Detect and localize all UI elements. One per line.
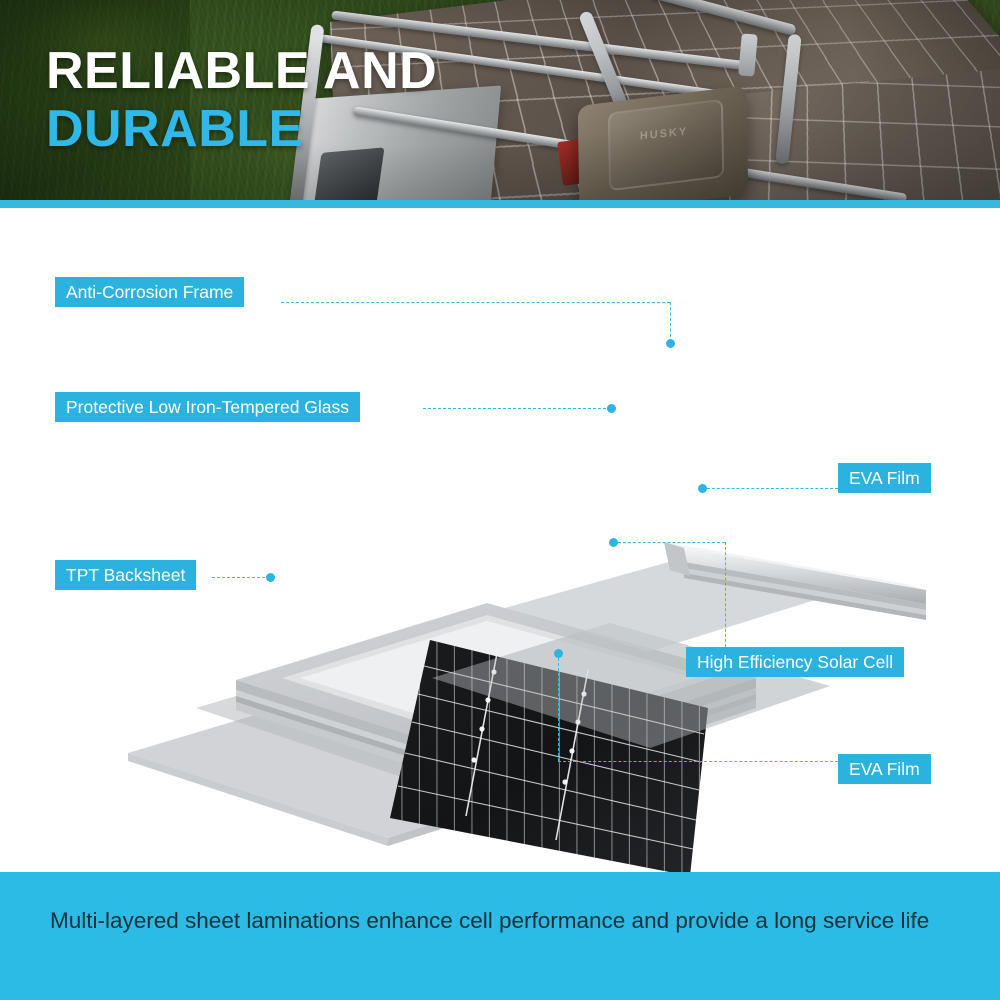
leader-line-eva-film-bottom xyxy=(558,761,838,762)
anchor-dot-eva-film-top xyxy=(698,484,707,493)
label-protective-low-iron-tempered-glass[interactable]: Protective Low Iron-Tempered Glass xyxy=(55,392,360,422)
hero-banner: HUSKY RELIABLE AND DURABLE xyxy=(0,0,1000,200)
hero-title-line-2: DURABLE xyxy=(46,100,437,158)
accent-divider-bar xyxy=(0,200,1000,208)
label-tpt-backsheet[interactable]: TPT Backsheet xyxy=(55,560,196,590)
exploded-diagram-stage: Anti-Corrosion Frame Protective Low Iron… xyxy=(0,208,1000,872)
label-eva-film-bottom[interactable]: EVA Film xyxy=(838,754,931,784)
hero-title-line-1: RELIABLE AND xyxy=(46,42,437,100)
label-high-efficiency-solar-cell[interactable]: High Efficiency Solar Cell xyxy=(686,647,904,677)
footer-banner: Multi-layered sheet laminations enhance … xyxy=(0,872,1000,1000)
product-infographic-page: HUSKY RELIABLE AND DURABLE xyxy=(0,0,1000,1000)
leader-line-solar-cell-drop xyxy=(725,542,726,647)
leader-line-anti-corrosion-frame-drop xyxy=(670,302,671,342)
label-eva-film-top[interactable]: EVA Film xyxy=(838,463,931,493)
anchor-dot-tpt-backsheet xyxy=(266,573,275,582)
leader-line-tempered-glass xyxy=(423,408,611,409)
anchor-dot-eva-film-bottom xyxy=(554,649,563,658)
leader-line-eva-film-bottom-drop xyxy=(558,653,559,761)
anchor-dot-tempered-glass xyxy=(607,404,616,413)
leader-line-solar-cell xyxy=(613,542,725,543)
label-anti-corrosion-frame[interactable]: Anti-Corrosion Frame xyxy=(55,277,244,307)
leader-line-tpt-backsheet xyxy=(212,577,270,578)
hero-title-block: RELIABLE AND DURABLE xyxy=(46,42,437,158)
footer-description-text: Multi-layered sheet laminations enhance … xyxy=(50,900,940,942)
anchor-dot-solar-cell xyxy=(609,538,618,547)
anchor-dot-anti-corrosion-frame xyxy=(666,339,675,348)
leader-line-eva-film-top xyxy=(702,488,838,489)
leader-line-anti-corrosion-frame xyxy=(281,302,670,303)
